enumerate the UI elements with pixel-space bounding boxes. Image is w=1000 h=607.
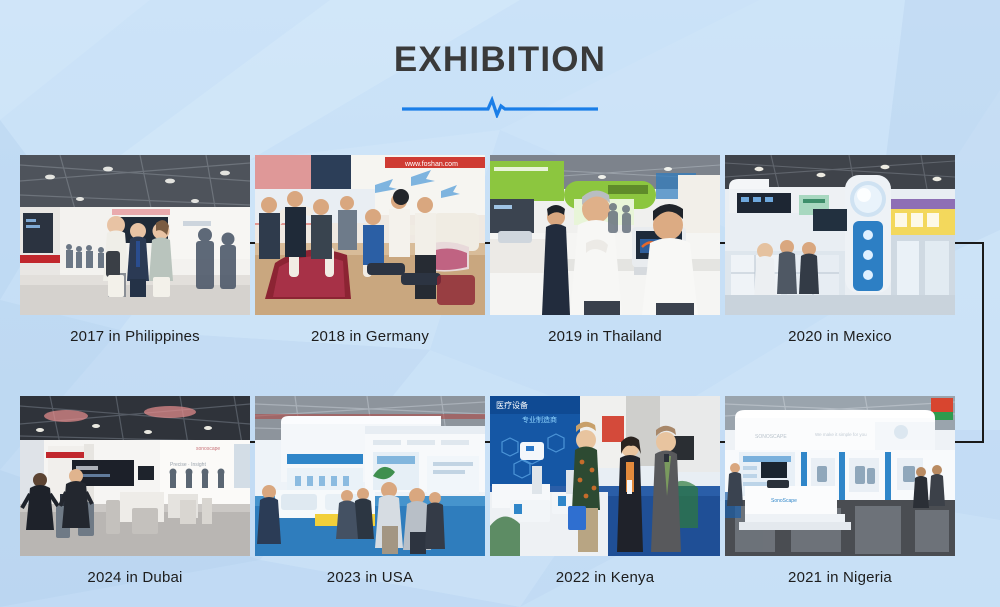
gallery-item-label: 2019 in Thailand <box>490 328 720 346</box>
gallery-item-2019-thailand[interactable]: 2019 in Thailand <box>490 155 720 346</box>
gallery-item-2017-philippines[interactable]: 2017 in Philippines <box>20 155 250 346</box>
page-title: EXHIBITION <box>394 42 606 77</box>
photo-2017-philippines[interactable] <box>20 155 250 315</box>
svg-text:We make it simple for you: We make it simple for you <box>815 432 867 437</box>
exhibition-gallery: 2017 in Philippines www.foshan.com <box>20 155 955 587</box>
gallery-item-2023-usa[interactable]: 2023 in USA <box>255 396 485 587</box>
svg-text:Precise · Insight: Precise · Insight <box>170 462 206 468</box>
gallery-item-label: 2023 in USA <box>255 569 485 587</box>
gallery-item-label: 2021 in Nigeria <box>725 569 955 587</box>
exhibition-page: EXHIBITION <box>0 0 1000 607</box>
svg-text:医疗设备: 医疗设备 <box>496 400 528 410</box>
photo-2020-mexico[interactable] <box>725 155 955 315</box>
gallery-item-label: 2022 in Kenya <box>490 569 720 587</box>
svg-text:sonoscape: sonoscape <box>196 446 220 452</box>
photo-2018-germany[interactable]: www.foshan.com <box>255 155 485 315</box>
photo-2022-kenya[interactable]: 医疗设备 专业制造商 <box>490 396 720 556</box>
svg-text:专业制造商: 专业制造商 <box>522 415 557 424</box>
gallery-item-2024-dubai[interactable]: sonoscape Precise · Insight <box>20 396 250 587</box>
svg-text:SonoScape: SonoScape <box>771 498 797 504</box>
gallery-item-2022-kenya[interactable]: 医疗设备 专业制造商 <box>490 396 720 587</box>
gallery-item-label: 2024 in Dubai <box>20 569 250 587</box>
heartbeat-rule-icon <box>402 96 598 118</box>
photo-2023-usa[interactable] <box>255 396 485 556</box>
photo-2021-nigeria[interactable]: SONOSCAPE We make it simple for you <box>725 396 955 556</box>
gallery-item-2020-mexico[interactable]: 2020 in Mexico <box>725 155 955 346</box>
gallery-item-label: 2017 in Philippines <box>20 328 250 346</box>
gallery-item-2021-nigeria[interactable]: SONOSCAPE We make it simple for you <box>725 396 955 587</box>
photo-2019-thailand[interactable] <box>490 155 720 315</box>
page-header: EXHIBITION <box>0 0 1000 150</box>
svg-text:SONOSCAPE: SONOSCAPE <box>755 434 787 440</box>
connector-2020-2021-wrap <box>955 243 983 442</box>
gallery-item-2018-germany[interactable]: www.foshan.com <box>255 155 485 346</box>
svg-text:www.foshan.com: www.foshan.com <box>404 161 458 168</box>
photo-2024-dubai[interactable]: sonoscape Precise · Insight <box>20 396 250 556</box>
gallery-item-label: 2020 in Mexico <box>725 328 955 346</box>
gallery-item-label: 2018 in Germany <box>255 328 485 346</box>
